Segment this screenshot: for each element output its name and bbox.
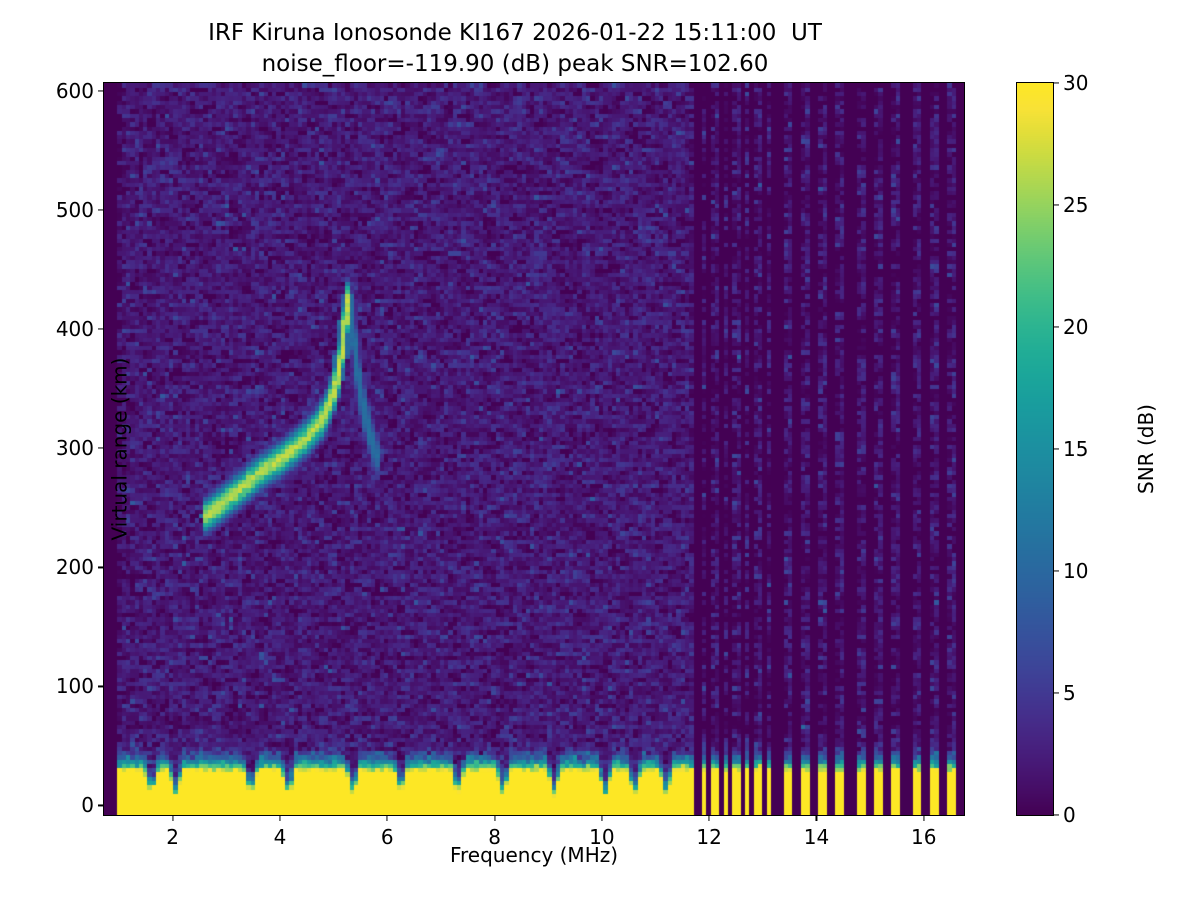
y-tick-mark (98, 329, 104, 330)
colorbar-tick-label: 0 (1063, 803, 1076, 827)
x-tick-mark (387, 815, 388, 821)
x-tick-mark (709, 815, 710, 821)
y-tick-mark (98, 448, 104, 449)
y-axis-label: Virtual range (km) (107, 358, 131, 541)
y-tick-mark (98, 805, 104, 806)
x-tick-label: 2 (166, 825, 179, 849)
colorbar-gradient (1017, 83, 1053, 815)
x-tick-label: 6 (381, 825, 394, 849)
title-line-2: noise_floor=-119.90 (dB) peak SNR=102.60 (0, 49, 1030, 80)
colorbar-tick-label: 10 (1063, 559, 1088, 583)
y-tick-label: 300 (56, 436, 94, 460)
x-tick-label: 14 (804, 825, 829, 849)
colorbar-tick-mark (1053, 326, 1059, 327)
y-tick-mark (98, 567, 104, 568)
y-tick-label: 200 (56, 555, 94, 579)
x-tick-label: 10 (589, 825, 614, 849)
y-tick-label: 0 (81, 793, 94, 817)
colorbar-tick-label: 5 (1063, 681, 1076, 705)
x-tick-mark (816, 815, 817, 821)
x-tick-label: 12 (696, 825, 721, 849)
colorbar-tick-mark (1053, 82, 1059, 83)
colorbar-tick-mark (1053, 204, 1059, 205)
colorbar-tick-mark (1053, 570, 1059, 571)
y-tick-label: 100 (56, 674, 94, 698)
y-tick-mark (98, 91, 104, 92)
y-tick-label: 500 (56, 198, 94, 222)
x-tick-label: 16 (911, 825, 936, 849)
figure-title: IRF Kiruna Ionosonde KI167 2026-01-22 15… (0, 18, 1030, 80)
ionogram-figure: IRF Kiruna Ionosonde KI167 2026-01-22 15… (0, 0, 1200, 900)
x-tick-mark (279, 815, 280, 821)
y-tick-mark (98, 210, 104, 211)
colorbar-tick-label: 30 (1063, 71, 1088, 95)
x-axis-label: Frequency (MHz) (104, 843, 964, 867)
colorbar-tick-label: 20 (1063, 315, 1088, 339)
x-tick-mark (923, 815, 924, 821)
y-tick-mark (98, 686, 104, 687)
x-tick-mark (601, 815, 602, 821)
colorbar: 051015202530 SNR (dB) (1016, 82, 1054, 816)
title-line-1: IRF Kiruna Ionosonde KI167 2026-01-22 15… (0, 18, 1030, 49)
y-tick-label: 600 (56, 79, 94, 103)
x-tick-label: 8 (488, 825, 501, 849)
colorbar-tick-label: 25 (1063, 193, 1088, 217)
colorbar-label: SNR (dB) (1134, 404, 1158, 494)
x-tick-mark (172, 815, 173, 821)
colorbar-tick-mark (1053, 814, 1059, 815)
colorbar-tick-mark (1053, 448, 1059, 449)
x-tick-mark (494, 815, 495, 821)
colorbar-tick-label: 15 (1063, 437, 1088, 461)
ionogram-plot-area: Virtual range (km) Frequency (MHz) 01002… (103, 82, 965, 816)
y-tick-label: 400 (56, 317, 94, 341)
colorbar-tick-mark (1053, 692, 1059, 693)
x-tick-label: 4 (274, 825, 287, 849)
ionogram-heatmap-canvas (104, 83, 964, 815)
